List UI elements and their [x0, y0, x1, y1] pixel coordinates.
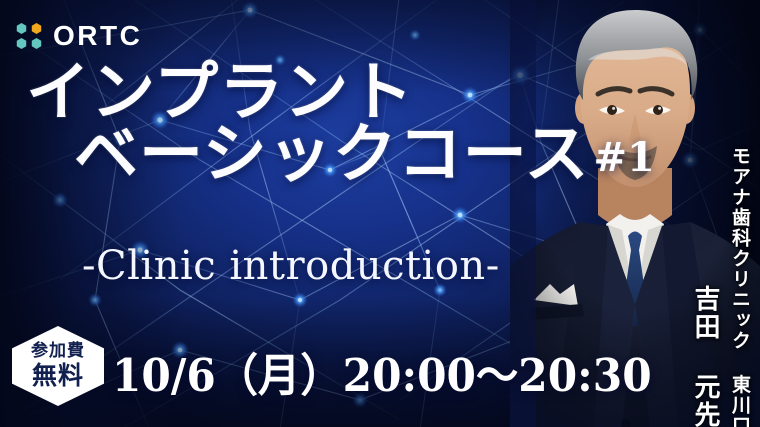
schedule-datetime: 10/6（月）20:00〜20:30	[112, 339, 652, 404]
headline-line-1: インプラント	[26, 62, 655, 124]
badge-label-fee: 参加費	[31, 342, 85, 361]
badge-label-free: 無料	[32, 362, 84, 390]
headline-line-2-row: ベーシックコース #1	[26, 124, 655, 186]
logo-wordmark: ORTC	[53, 22, 142, 50]
speaker-affiliation: モアナ歯科クリニック 東川口院 院長	[727, 146, 754, 427]
teal-hexagon-icon	[16, 23, 27, 34]
headline-block: インプラント ベーシックコース #1	[26, 62, 655, 186]
ortc-logo[interactable]: ORTC	[16, 22, 142, 50]
seminar-banner: ORTC インプラント ベーシックコース #1 -Clinic introduc…	[0, 0, 760, 427]
speaker-name: 吉田 元先生	[687, 285, 724, 427]
teal-hexagon-icon	[31, 38, 42, 49]
headline-line-2: ベーシックコース	[74, 124, 590, 186]
teal-hexagon-icon	[16, 38, 27, 49]
orange-hexagon-icon	[31, 23, 42, 34]
logo-hexagon-marks	[16, 23, 42, 49]
subtitle: -Clinic introduction-	[82, 243, 500, 289]
headline-session-number: #1	[594, 138, 655, 178]
